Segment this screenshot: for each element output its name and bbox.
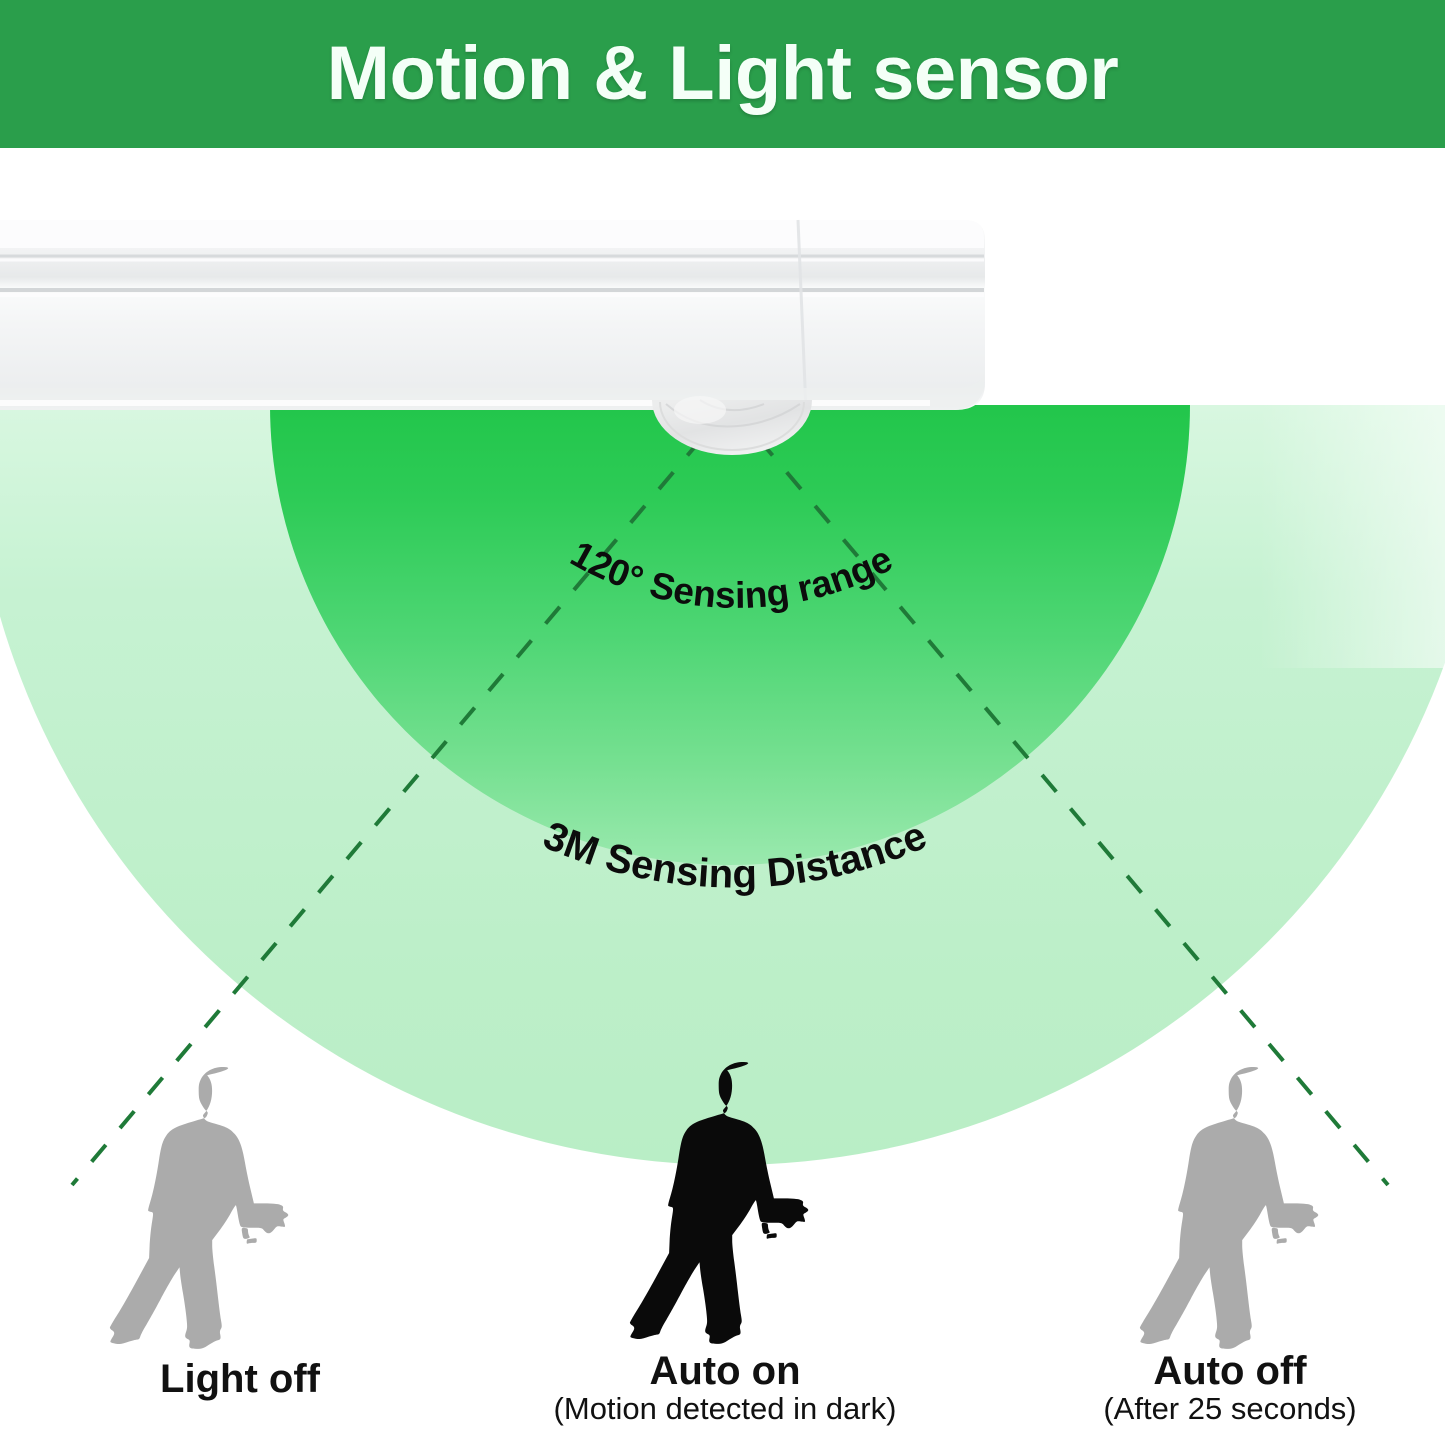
right-fade (980, 148, 1445, 668)
led-fixture (0, 220, 985, 410)
caption-auto-off-subtitle: (After 25 seconds) (1020, 1392, 1440, 1427)
caption-auto-on: Auto on (Motion detected in dark) (505, 1350, 945, 1427)
diagram-stage: 120° Sensing range 3M Sensing Distance (0, 148, 1445, 1431)
caption-auto-on-title: Auto on (505, 1350, 945, 1392)
caption-light-off-title: Light off (20, 1358, 460, 1400)
walking-person-left (110, 1067, 288, 1349)
caption-auto-on-subtitle: (Motion detected in dark) (505, 1392, 945, 1427)
page-title: Motion & Light sensor (327, 36, 1119, 112)
header-banner: Motion & Light sensor (0, 0, 1445, 148)
sensing-diagram: 120° Sensing range 3M Sensing Distance (0, 148, 1445, 1431)
caption-auto-off: Auto off (After 25 seconds) (1020, 1350, 1440, 1427)
caption-auto-off-title: Auto off (1020, 1350, 1440, 1392)
caption-light-off: Light off (20, 1358, 460, 1400)
caption-row: Light off Auto on (Motion detected in da… (0, 1338, 1445, 1431)
walking-person-right (1140, 1067, 1318, 1349)
